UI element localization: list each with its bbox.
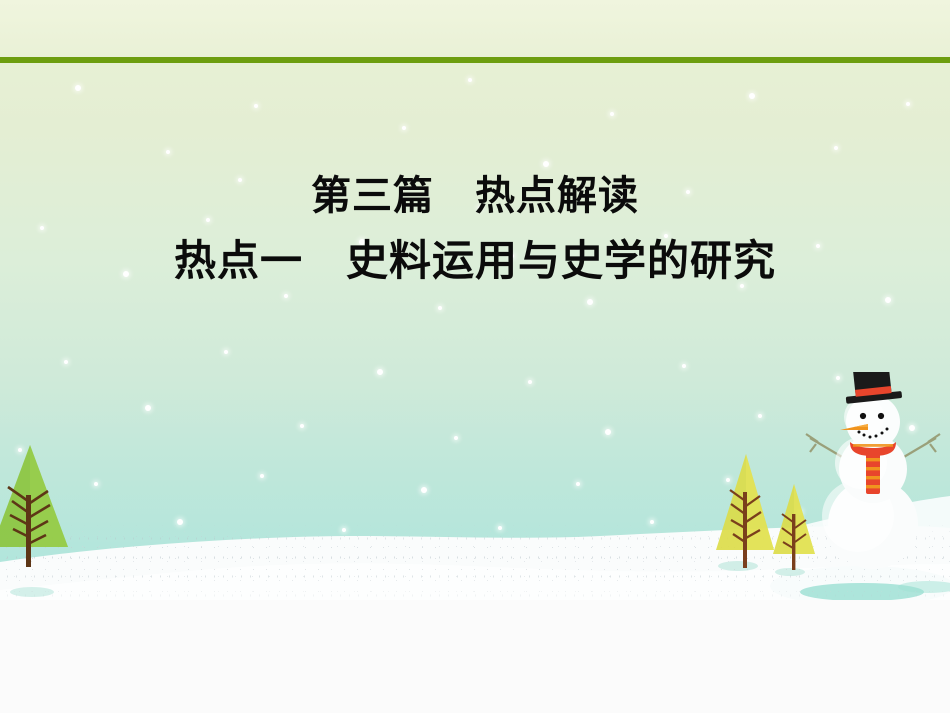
snowflake-dot <box>300 424 304 428</box>
tree-trunk <box>743 492 747 568</box>
snowflake-dot <box>528 380 532 384</box>
snowflake-dot <box>145 405 151 411</box>
snowflake-dot <box>749 93 755 99</box>
snowflake-dot <box>758 414 762 418</box>
snowflake-dot <box>438 306 442 310</box>
slide-bottom-margin <box>0 600 950 713</box>
snowman <box>796 372 950 576</box>
snowflake-dot <box>284 294 288 298</box>
page-title-secondary: 热点一 史料运用与史学的研究 <box>0 230 950 292</box>
snowflake-dot <box>906 102 910 106</box>
page-title-primary: 第三篇 热点解读 <box>0 168 950 224</box>
title-block: 第三篇 热点解读 热点一 史料运用与史学的研究 <box>0 168 950 292</box>
snowflake-dot <box>254 104 258 108</box>
snowflake-dot <box>682 364 686 368</box>
snowflake-dot <box>605 429 611 435</box>
snowflake-dot <box>75 85 81 91</box>
snowflake-dot <box>224 350 228 354</box>
snowflake-dot <box>377 369 383 375</box>
snowflake-dot <box>166 150 170 154</box>
snowflake-dot <box>64 360 68 364</box>
snowman-eye-right <box>878 413 884 419</box>
tree-foliage-light <box>30 445 68 547</box>
snowflake-dot <box>402 126 406 130</box>
snowflake-dot <box>587 299 593 305</box>
snowflake-dot <box>834 146 838 150</box>
header-band <box>0 0 950 58</box>
snowflake-dot <box>454 436 458 440</box>
top-hat-icon <box>842 372 902 404</box>
scarf-neck-stripes <box>853 444 893 447</box>
fir-tree-green <box>0 443 98 577</box>
snowflake-dot <box>543 161 549 167</box>
snowflake-dot <box>468 78 472 82</box>
presentation-slide: 第三篇 热点解读 热点一 史料运用与史学的研究 <box>0 0 950 713</box>
snowflake-dot <box>885 297 891 303</box>
snowman-eye-left <box>860 413 866 419</box>
snowflake-dot <box>610 112 614 116</box>
